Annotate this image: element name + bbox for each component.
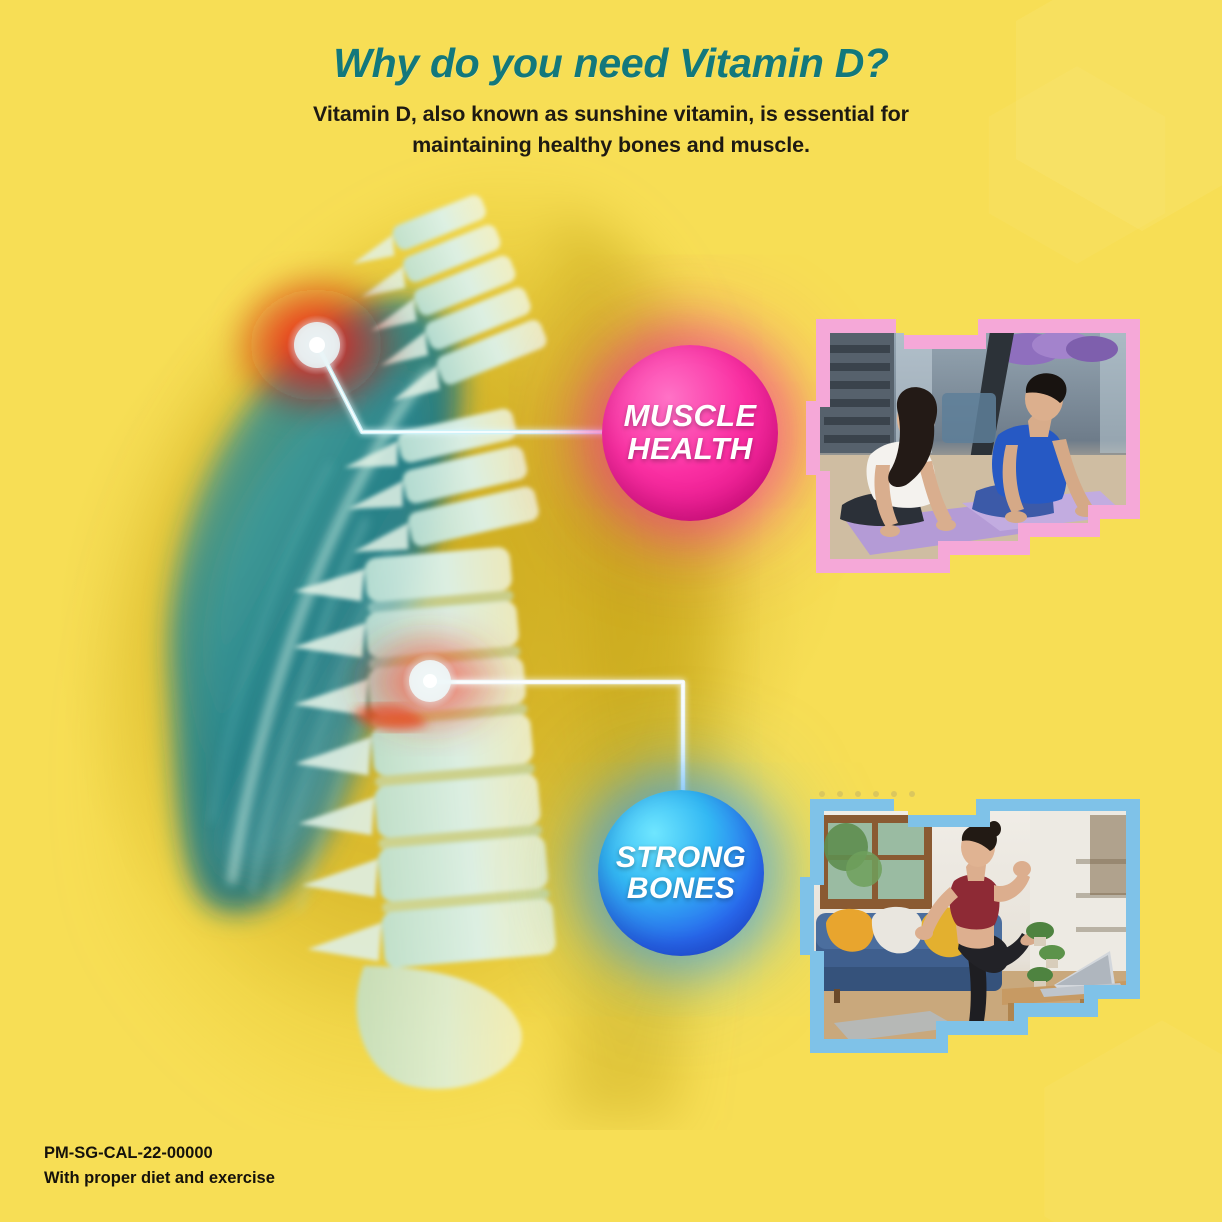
frame-dots (819, 791, 915, 797)
infographic-poster: Why do you need Vitamin D? Vitamin D, al… (0, 0, 1222, 1222)
photo-card-bones[interactable] (790, 785, 1160, 1067)
photo-card-muscle[interactable] (800, 305, 1156, 587)
spine-anatomy-illustration (0, 120, 760, 1130)
subtitle-part-1: Vitamin D, also known as (313, 102, 574, 126)
spine-xray-svg (0, 120, 760, 1130)
poster-header: Why do you need Vitamin D? Vitamin D, al… (0, 0, 1222, 161)
footer-code: PM-SG-CAL-22-00000 (44, 1141, 275, 1167)
muscle-hotspot-glow (224, 267, 408, 423)
bones-photo-frame (790, 785, 1160, 1067)
badge-strong-bones[interactable]: STRONG BONES (598, 790, 764, 956)
footer-disclaimer: With proper diet and exercise (44, 1166, 275, 1192)
muscle-photo-frame (800, 305, 1156, 587)
badge-muscle-line2: HEALTH (624, 433, 757, 466)
page-subtitle: Vitamin D, also known as sunshine vitami… (0, 99, 1222, 161)
badge-bones-line1: STRONG (616, 842, 746, 874)
subtitle-part-2: , is essential for (748, 102, 909, 126)
subtitle-bold-phrase: sunshine vitamin (574, 102, 748, 126)
badge-bones-line2: BONES (616, 873, 746, 905)
badge-muscle-line1: MUSCLE (624, 400, 757, 433)
badge-muscle-health[interactable]: MUSCLE HEALTH (602, 345, 778, 521)
footer: PM-SG-CAL-22-00000 With proper diet and … (44, 1141, 275, 1192)
bone-hotspot-glow (344, 620, 516, 744)
page-title: Why do you need Vitamin D? (0, 42, 1222, 85)
subtitle-line-2: maintaining healthy bones and muscle. (412, 133, 810, 157)
